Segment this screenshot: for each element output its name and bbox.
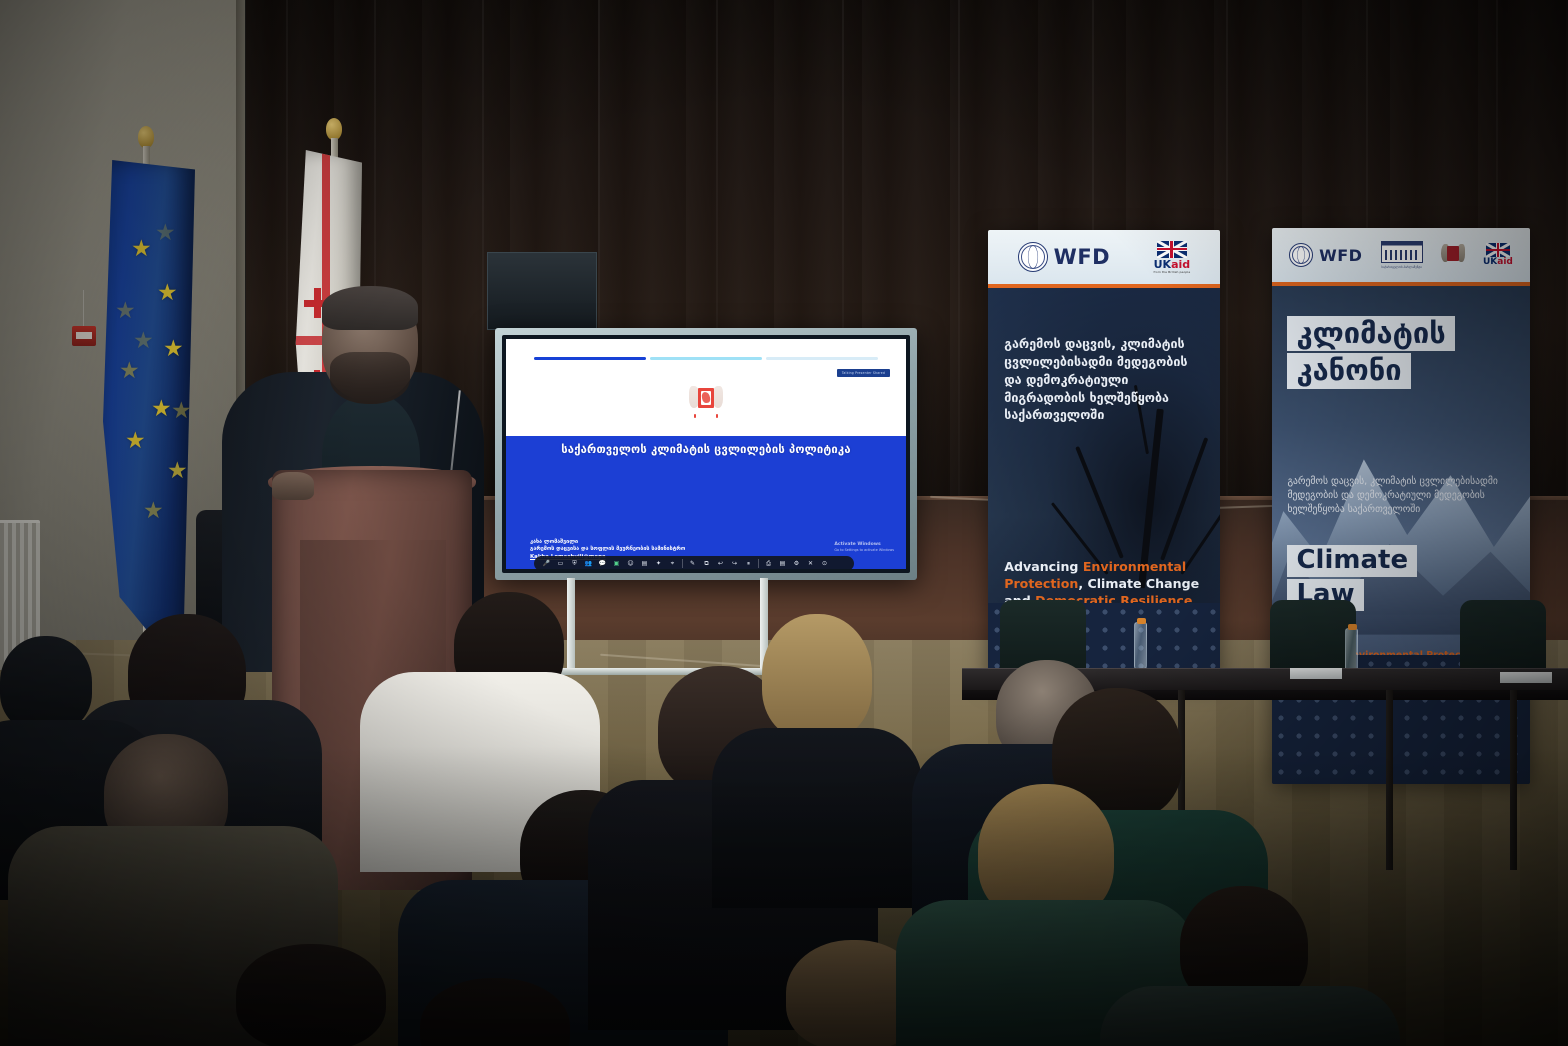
new-share-icon[interactable]: ⧉ bbox=[702, 559, 711, 568]
banner-subtitle-georgian: გარემოს დაცვის, კლიმატის ცვლილებისადმი მ… bbox=[1287, 475, 1514, 517]
wfd-logo: WFD bbox=[1018, 242, 1110, 272]
wfd-globe-icon bbox=[1289, 243, 1313, 267]
remote-control-icon[interactable]: ⌖ bbox=[668, 559, 677, 568]
pa-speaker-icon bbox=[487, 252, 597, 330]
ukaid-logo: UKaid from the British people bbox=[1153, 241, 1190, 274]
ukaid-wordmark: UKaid bbox=[1483, 258, 1513, 267]
redo-icon[interactable]: ↪ bbox=[730, 559, 739, 568]
display-bezel: Talking Presenter Shared საქართველოს კლი… bbox=[502, 335, 910, 573]
presenter-hand bbox=[272, 472, 314, 500]
pause-icon[interactable]: ⏸ bbox=[744, 559, 753, 568]
progress-segment-next bbox=[650, 357, 762, 360]
banner-logo-bar: WFD საქართველოს პარლამენტი UKaid bbox=[1272, 228, 1530, 286]
settings-gear-icon[interactable]: ⚙ bbox=[792, 559, 801, 568]
ukaid-logo: UKaid bbox=[1483, 243, 1513, 267]
chat-icon[interactable]: 💬 bbox=[598, 559, 607, 568]
toolbar-divider bbox=[758, 559, 759, 568]
parliament-caption: საქართველოს პარლამენტი bbox=[1381, 265, 1421, 269]
video-camera-icon[interactable]: ▭ bbox=[556, 559, 565, 568]
ukaid-tagline: from the British people bbox=[1153, 270, 1190, 274]
reactions-icon[interactable]: ☺ bbox=[626, 559, 635, 568]
flagpole-finial bbox=[138, 126, 154, 148]
wfd-wordmark: WFD bbox=[1319, 246, 1362, 265]
fire-alarm-icon bbox=[72, 326, 96, 346]
presenter-chip: Talking Presenter Shared bbox=[837, 369, 890, 377]
watermark-subtitle: Go to Settings to activate Windows bbox=[834, 548, 894, 553]
progress-segment-active bbox=[534, 357, 646, 360]
table-leg bbox=[1510, 690, 1517, 870]
participants-icon[interactable]: 👥 bbox=[584, 559, 593, 568]
eu-flag: ★ ★ ★ ★ ★ ★ ★ ★ ★ ★ ★ ★ bbox=[103, 160, 195, 635]
parliament-building-icon bbox=[1381, 241, 1423, 263]
banner-headline-georgian: გარემოს დაცვის, კლიმატის ცვლილებისადმი მ… bbox=[1004, 335, 1204, 424]
name-card-icon bbox=[1290, 668, 1342, 679]
conference-room-scene: ★ ★ ★ ★ ★ ★ ★ ★ ★ ★ ★ ★ Talkin bbox=[0, 0, 1568, 1046]
presenter-org: გარემოს დაცვისა და სოფლის მეურნეობის სამ… bbox=[530, 546, 685, 554]
banner-title-ge-line1: კლიმატის bbox=[1287, 316, 1454, 351]
name-card-icon bbox=[1500, 672, 1552, 683]
georgia-coat-of-arms-icon bbox=[689, 383, 723, 419]
more-dots-icon[interactable]: ⊙ bbox=[820, 559, 829, 568]
share-screen-icon[interactable]: ▣ bbox=[612, 559, 621, 568]
slide-canvas[interactable]: Talking Presenter Shared საქართველოს კლი… bbox=[506, 339, 906, 569]
close-x-icon[interactable]: ✕ bbox=[806, 559, 815, 568]
ai-icon[interactable]: ✦ bbox=[654, 559, 663, 568]
meeting-control-toolbar[interactable]: 🎤 ▭ ⛨ 👥 💬 ▣ ☺ ▤ ✦ ⌖ ✎ ⧉ ↩ ↪ ⏸ bbox=[534, 556, 854, 569]
wfd-logo: WFD bbox=[1289, 243, 1362, 267]
microphone-icon[interactable]: 🎤 bbox=[542, 559, 551, 568]
parliament-logo: საქართველოს პარლამენტი bbox=[1381, 241, 1423, 269]
progress-segment-upcoming bbox=[766, 357, 878, 360]
georgia-emblem-icon bbox=[1441, 241, 1465, 269]
toolbar-divider bbox=[682, 559, 683, 568]
uk-flag-icon bbox=[1157, 241, 1187, 258]
shield-icon[interactable]: ⛨ bbox=[570, 559, 579, 568]
alarm-wire bbox=[83, 290, 84, 328]
banner-logo-bar: WFD UKaid from the British people bbox=[988, 230, 1220, 288]
slide-title: საქართველოს კლიმატის ცვლილების პოლიტიკა bbox=[506, 443, 906, 456]
slide-progress-bars bbox=[534, 357, 878, 360]
summary-icon[interactable]: ▤ bbox=[640, 559, 649, 568]
wfd-wordmark: WFD bbox=[1054, 245, 1110, 269]
flagpole-finial bbox=[326, 118, 342, 140]
windows-activation-watermark: Activate Windows Go to Settings to activ… bbox=[834, 542, 894, 553]
screenshot-icon[interactable]: ⎙ bbox=[764, 559, 773, 568]
undo-icon[interactable]: ↩ bbox=[716, 559, 725, 568]
presentation-display[interactable]: Talking Presenter Shared საქართველოს კლი… bbox=[495, 328, 917, 580]
en-part-0: Advancing bbox=[1004, 559, 1083, 574]
save-icon[interactable]: ▤ bbox=[778, 559, 787, 568]
ukaid-wordmark: UKaid bbox=[1154, 259, 1191, 270]
presenter-hair bbox=[322, 286, 418, 330]
wfd-globe-icon bbox=[1018, 242, 1048, 272]
banner-title-ge-line2: კანონი bbox=[1287, 353, 1410, 388]
uk-flag-icon bbox=[1486, 243, 1510, 257]
annotate-icon[interactable]: ✎ bbox=[688, 559, 697, 568]
climate-law-banner[interactable]: WFD საქართველოს პარლამენტი UKaid bbox=[1272, 228, 1530, 784]
slide-body: საქართველოს კლიმატის ცვლილების პოლიტიკა … bbox=[506, 436, 906, 569]
display-stand-left bbox=[567, 578, 575, 674]
presenter-beard bbox=[330, 352, 410, 404]
water-bottle-icon bbox=[1134, 622, 1147, 670]
table-leg bbox=[1386, 690, 1393, 870]
banner-artwork-mountain: კლიმატის კანონი გარემოს დაცვის, კლიმატის… bbox=[1272, 286, 1530, 784]
banner-title-en-line1: Climate bbox=[1287, 545, 1417, 577]
